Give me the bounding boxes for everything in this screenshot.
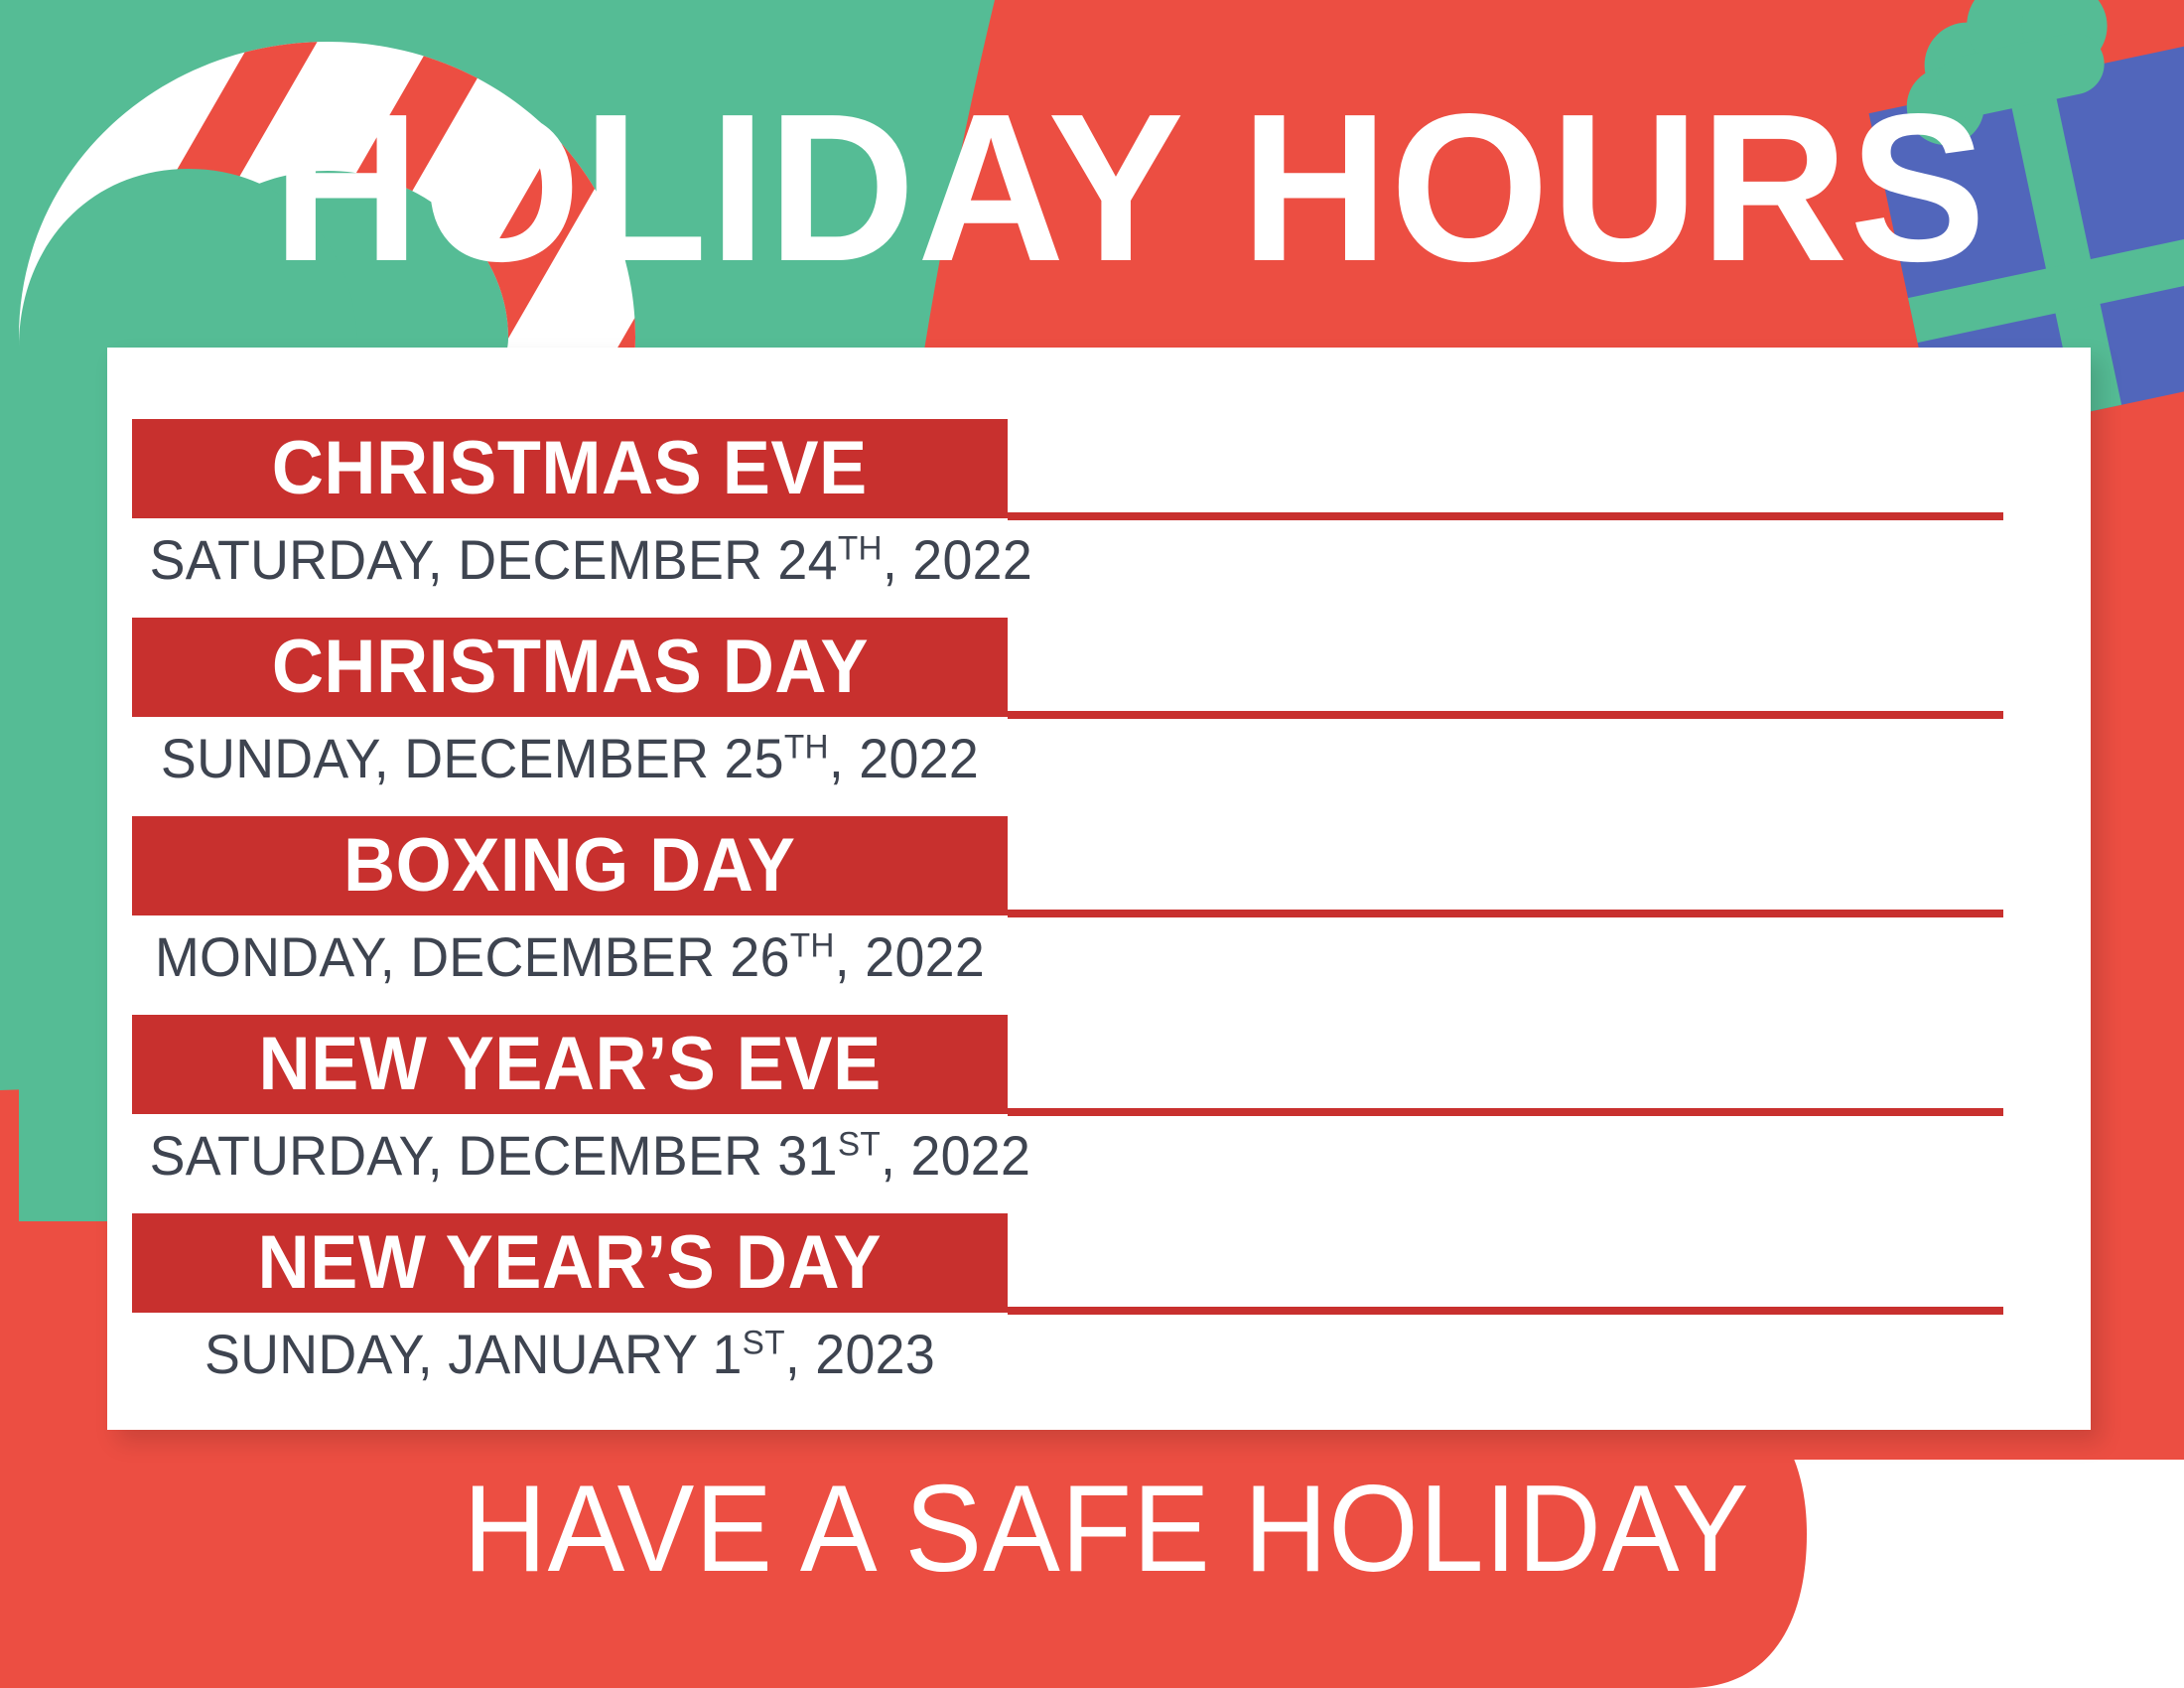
hours-write-in-line[interactable] [1008,910,2003,917]
holiday-name-label: CHRISTMAS DAY [271,630,868,705]
holiday-date: MONDAY, DECEMBER 26TH, 2022 [150,919,991,995]
holiday-name-label: CHRISTMAS EVE [272,431,868,506]
holiday-date: SUNDAY, JANUARY 1ST, 2023 [150,1317,991,1392]
holiday-date-prefix: SATURDAY, DECEMBER 31 [150,1124,838,1187]
hours-write-in-line[interactable] [1008,512,2003,520]
schedule-card: CHRISTMAS EVE SATURDAY, DECEMBER 24TH, 2… [107,348,2091,1430]
holiday-date-suffix: , 2023 [785,1323,935,1385]
holiday-date-ordinal: TH [838,529,883,567]
holiday-name-banner: NEW YEAR’S EVE [132,1015,1008,1114]
holiday-date-suffix: , 2022 [829,727,979,789]
holiday-date-suffix: , 2022 [835,925,985,988]
schedule-row: CHRISTMAS DAY SUNDAY, DECEMBER 25TH, 202… [132,618,2066,816]
schedule-row: CHRISTMAS EVE SATURDAY, DECEMBER 24TH, 2… [132,419,2066,618]
holiday-date-ordinal: TH [784,728,829,766]
schedule-row: NEW YEAR’S DAY SUNDAY, JANUARY 1ST, 2023 [132,1213,2066,1408]
holiday-date-prefix: SATURDAY, DECEMBER 24 [150,528,838,591]
footer-red-band [0,1390,1807,1688]
holiday-date-prefix: SUNDAY, DECEMBER 25 [161,727,784,789]
holiday-hours-poster: HOLIDAY HOURS CHRISTMAS EVE SATURDAY, DE… [0,0,2184,1688]
schedule-row: BOXING DAY MONDAY, DECEMBER 26TH, 2022 [132,816,2066,1015]
holiday-date-prefix: SUNDAY, JANUARY 1 [205,1323,743,1385]
holiday-name-banner: NEW YEAR’S DAY [132,1213,1008,1313]
holiday-date: SATURDAY, DECEMBER 31ST, 2022 [150,1118,991,1194]
holiday-date-ordinal: TH [790,926,835,964]
schedule-row: NEW YEAR’S EVE SATURDAY, DECEMBER 31ST, … [132,1015,2066,1213]
holiday-name-label: BOXING DAY [343,828,795,904]
hours-write-in-line[interactable] [1008,1307,2003,1315]
holiday-date-ordinal: ST [838,1125,881,1163]
holiday-date-ordinal: ST [743,1324,785,1361]
holiday-name-label: NEW YEAR’S EVE [258,1027,881,1102]
hours-write-in-line[interactable] [1008,711,2003,719]
holiday-date: SUNDAY, DECEMBER 25TH, 2022 [150,721,991,796]
holiday-name-banner: CHRISTMAS DAY [132,618,1008,717]
holiday-date-suffix: , 2022 [883,528,1032,591]
holiday-date-suffix: , 2022 [881,1124,1030,1187]
holiday-date-prefix: MONDAY, DECEMBER 26 [155,925,790,988]
hours-write-in-line[interactable] [1008,1108,2003,1116]
schedule-rows: CHRISTMAS EVE SATURDAY, DECEMBER 24TH, 2… [132,419,2066,1408]
holiday-name-label: NEW YEAR’S DAY [258,1225,883,1301]
holiday-date: SATURDAY, DECEMBER 24TH, 2022 [150,522,991,598]
holiday-name-banner: BOXING DAY [132,816,1008,915]
holiday-name-banner: CHRISTMAS EVE [132,419,1008,518]
